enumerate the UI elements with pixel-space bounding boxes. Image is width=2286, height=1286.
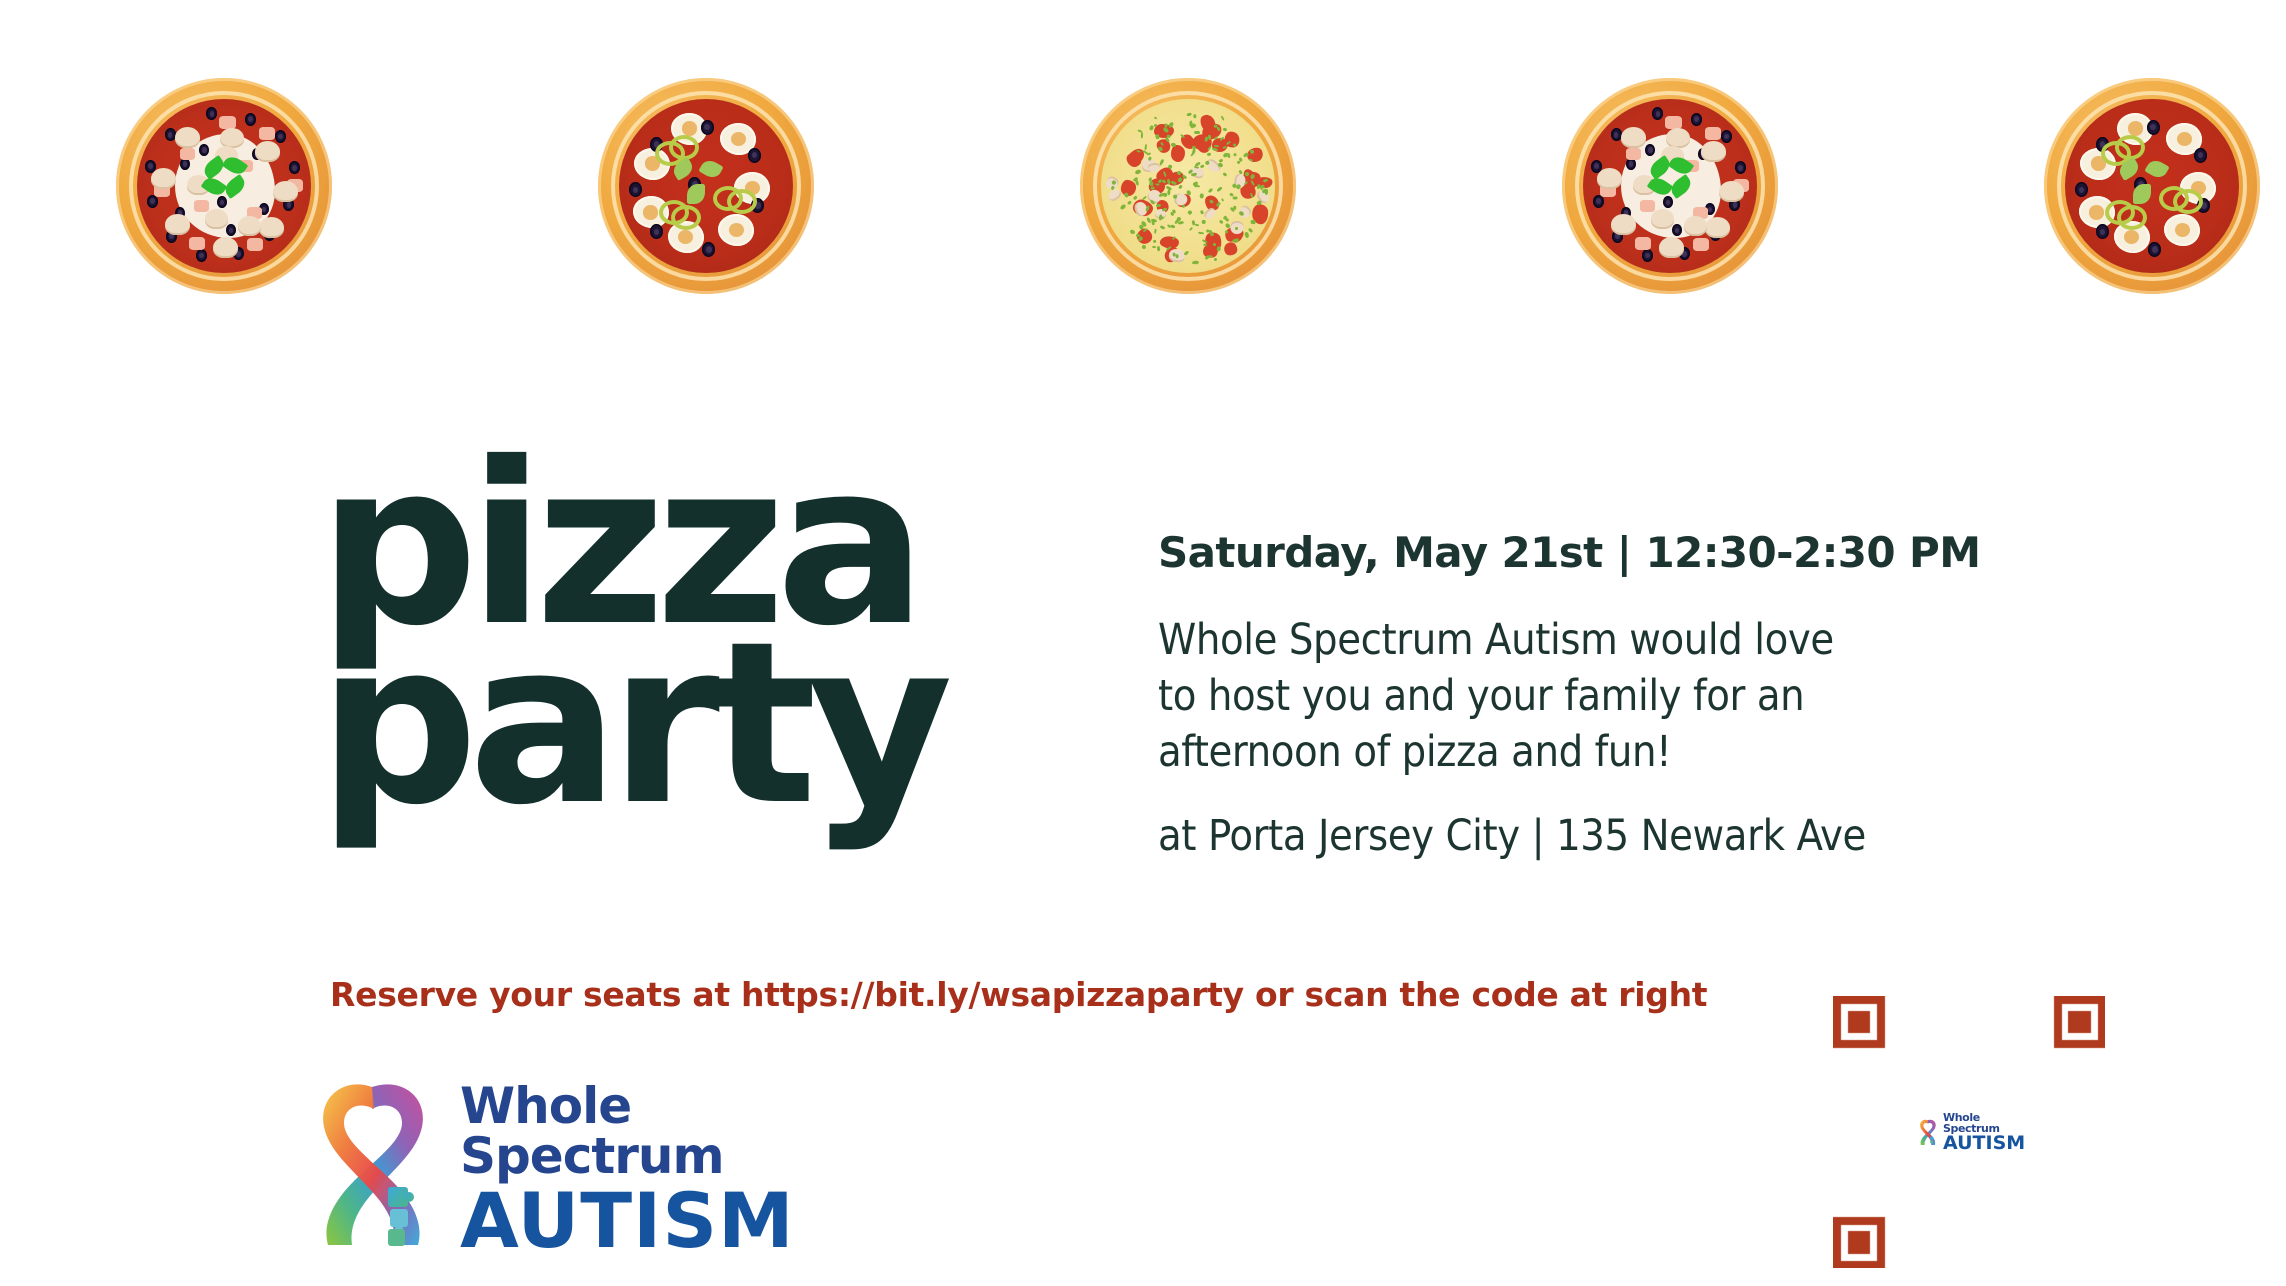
herb-fleck [1142,245,1147,250]
pizza-mushroom-olive-ham [116,78,332,294]
herb-fleck [1233,196,1238,199]
qr-logo-word-top: Whole Spectrum [1943,1112,2025,1134]
herb-fleck [1129,229,1136,235]
herb-fleck [1219,158,1224,163]
herb-fleck [1202,219,1206,223]
herb-fleck [1232,153,1236,157]
tomato-piece [1171,145,1185,162]
herb-fleck [1193,115,1196,119]
pizza-mozzarella-pepper [2044,78,2260,294]
herb-fleck [1154,117,1158,121]
herb-fleck [1186,112,1191,116]
herb-fleck [1134,169,1141,175]
herb-fleck [1140,132,1143,138]
herb-fleck [1159,225,1165,230]
event-description-line-3: afternoon of pizza and fun! [1158,725,2058,781]
herb-fleck [1208,135,1211,140]
pizza-party-flyer: pizza party Saturday, May 21st | 12:30-2… [0,0,2286,1286]
event-description: Whole Spectrum Autism would love to host… [1158,613,2058,781]
herb-fleck [1120,204,1127,211]
qr-logo-word-bottom: AUTISM [1943,1134,2025,1153]
herb-fleck [1178,185,1183,190]
event-description-line-1: Whole Spectrum Autism would love [1158,613,2058,669]
whole-spectrum-autism-logo: Whole Spectrum AUTISM [310,1075,850,1250]
herb-fleck [1184,250,1189,255]
pizza-white-herb-tomato [1080,78,1296,294]
herb-fleck [1172,252,1176,256]
event-datetime: Saturday, May 21st | 12:30-2:30 PM [1158,528,2058,577]
page-title: pizza party [318,455,943,813]
qr-code-icon[interactable]: Whole Spectrum AUTISM [1833,996,2105,1268]
herb-fleck [1191,220,1195,225]
reservation-link-text[interactable]: Reserve your seats at https://bit.ly/wsa… [330,975,1707,1014]
logo-word-bottom: AUTISM [460,1181,850,1261]
autism-ribbon-icon [1918,1112,1940,1152]
pizza-sauce [619,99,794,274]
tomato-piece [1221,240,1239,258]
herb-fleck [1153,239,1156,243]
qr-logo-text: Whole Spectrum AUTISM [1943,1112,2025,1153]
herb-fleck [1178,220,1184,224]
herb-fleck [1127,200,1132,205]
pizza-sauce [1101,99,1276,274]
herb-fleck [1222,172,1227,177]
logo-word-top: Whole Spectrum [460,1081,850,1181]
herb-fleck [1214,257,1218,260]
event-description-line-2: to host you and your family for an [1158,669,2058,725]
pizza-mushroom-olive-ham [1562,78,1778,294]
herb-fleck [1207,153,1212,157]
herb-fleck [1221,198,1224,202]
pizza-sauce [2065,99,2240,274]
herb-fleck [1136,234,1140,238]
herb-fleck [1236,160,1240,164]
qr-center-logo: Whole Spectrum AUTISM [1915,1106,2023,1158]
logo-wordmark: Whole Spectrum AUTISM [460,1081,850,1261]
event-details: Saturday, May 21st | 12:30-2:30 PM Whole… [1158,528,2058,861]
herb-fleck [1217,186,1223,192]
herb-fleck [1157,246,1161,251]
autism-ribbon-icon [310,1075,450,1250]
herb-fleck [1200,164,1205,168]
headline-line-2: party [318,634,943,813]
pizza-illustration-row [0,78,2286,318]
herb-fleck [1216,246,1221,252]
herb-fleck [1221,115,1225,121]
herb-fleck [1208,188,1214,194]
herb-fleck [1188,211,1193,216]
herb-fleck [1154,228,1157,233]
herb-fleck [1196,184,1200,187]
herb-fleck [1189,121,1193,127]
herb-fleck [1189,227,1193,231]
herb-fleck [1248,227,1254,233]
pizza-mozzarella-pepper [598,78,814,294]
herb-fleck [1170,225,1176,229]
herb-fleck [1152,246,1156,249]
herb-fleck [1223,127,1227,131]
event-venue: at Porta Jersey City | 135 Newark Ave [1158,811,2058,861]
herb-fleck [1244,232,1249,239]
pizza-sauce [137,99,312,274]
herb-fleck [1168,164,1173,169]
herb-fleck [1195,223,1199,226]
herb-fleck [1197,231,1203,234]
herb-fleck [1159,162,1162,166]
herb-fleck [1227,153,1232,159]
herb-fleck [1216,127,1220,131]
herb-fleck [1199,193,1203,198]
pizza-sauce [1583,99,1758,274]
